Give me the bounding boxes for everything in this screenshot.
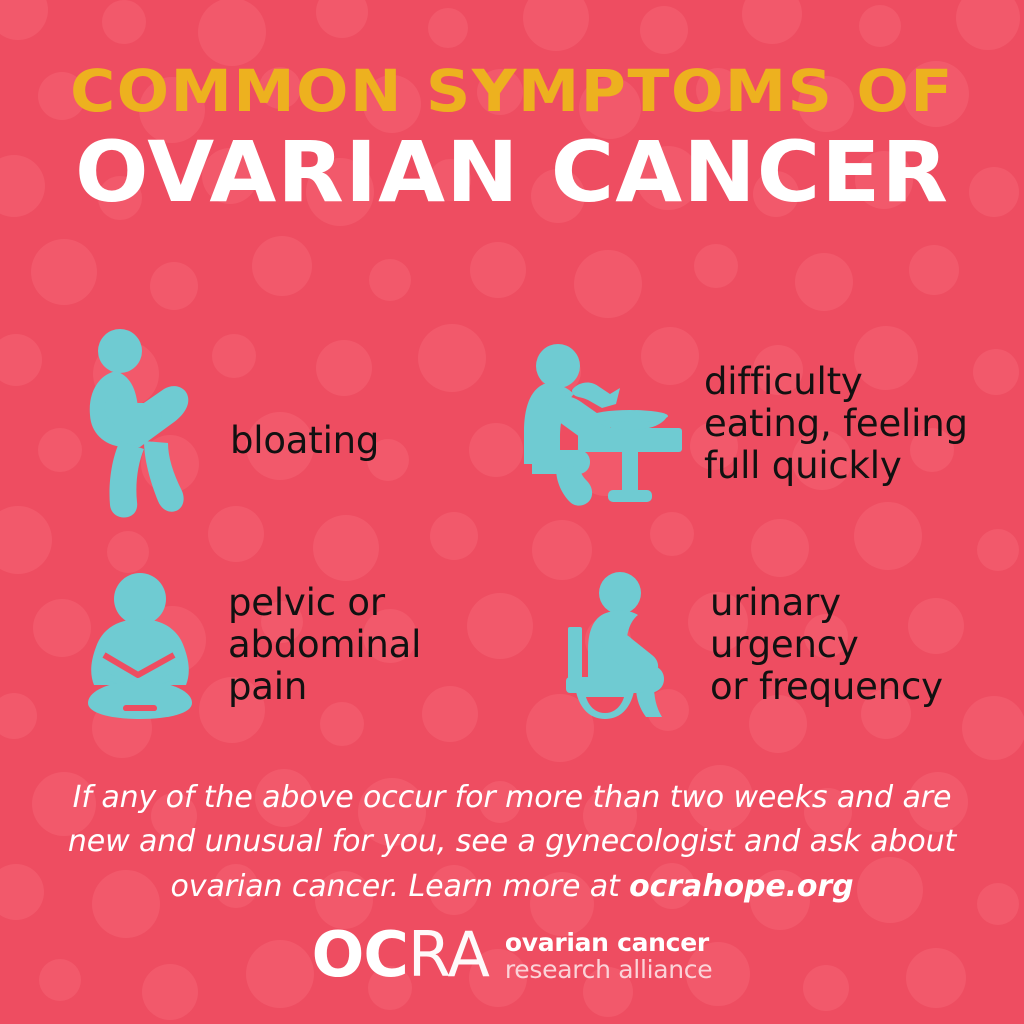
- symptom-row: pelvic or abdominal pain: [56, 560, 968, 730]
- logo-tagline-line-1: ovarian cancer: [505, 929, 712, 957]
- person-bloating-icon: [78, 329, 208, 519]
- person-eating-at-table-icon: [516, 342, 686, 507]
- page-title: COMMON SYMPTOMS OF OVARIAN CANCER: [0, 62, 1024, 216]
- footnote: If any of the above occur for more than …: [64, 776, 960, 909]
- person-on-toilet-icon: [556, 571, 688, 719]
- symptom-grid: bloating: [56, 288, 968, 730]
- ocra-logo[interactable]: OCRA ovarian cancer research alliance: [0, 924, 1024, 986]
- footnote-link[interactable]: ocrahope.org: [629, 869, 853, 904]
- logo-wordmark: OCRA: [312, 924, 489, 986]
- symptom-label: pelvic or abdominal pain: [228, 582, 506, 709]
- symptom-item-bloating: bloating: [56, 288, 506, 560]
- symptom-item-difficulty-eating: difficulty eating, feeling full quickly: [506, 288, 968, 560]
- logo-tagline: ovarian cancer research alliance: [505, 925, 712, 985]
- title-line-2: OVARIAN CANCER: [0, 128, 1024, 216]
- title-line-1: COMMON SYMPTOMS OF: [0, 62, 1024, 120]
- symptom-label: urinary urgency or frequency: [710, 582, 968, 709]
- person-seated-abdominal-pain-icon: [74, 571, 206, 719]
- symptom-label: bloating: [230, 420, 379, 462]
- logo-wordmark-ra: RA: [408, 924, 489, 986]
- logo-wordmark-oc: OC: [312, 924, 408, 986]
- symptom-label: difficulty eating, feeling full quickly: [704, 361, 968, 488]
- symptom-item-pelvic-pain: pelvic or abdominal pain: [56, 560, 506, 730]
- logo-tagline-line-2: research alliance: [505, 956, 712, 985]
- symptom-item-urinary-urgency: urinary urgency or frequency: [506, 560, 968, 730]
- symptom-row: bloating: [56, 288, 968, 560]
